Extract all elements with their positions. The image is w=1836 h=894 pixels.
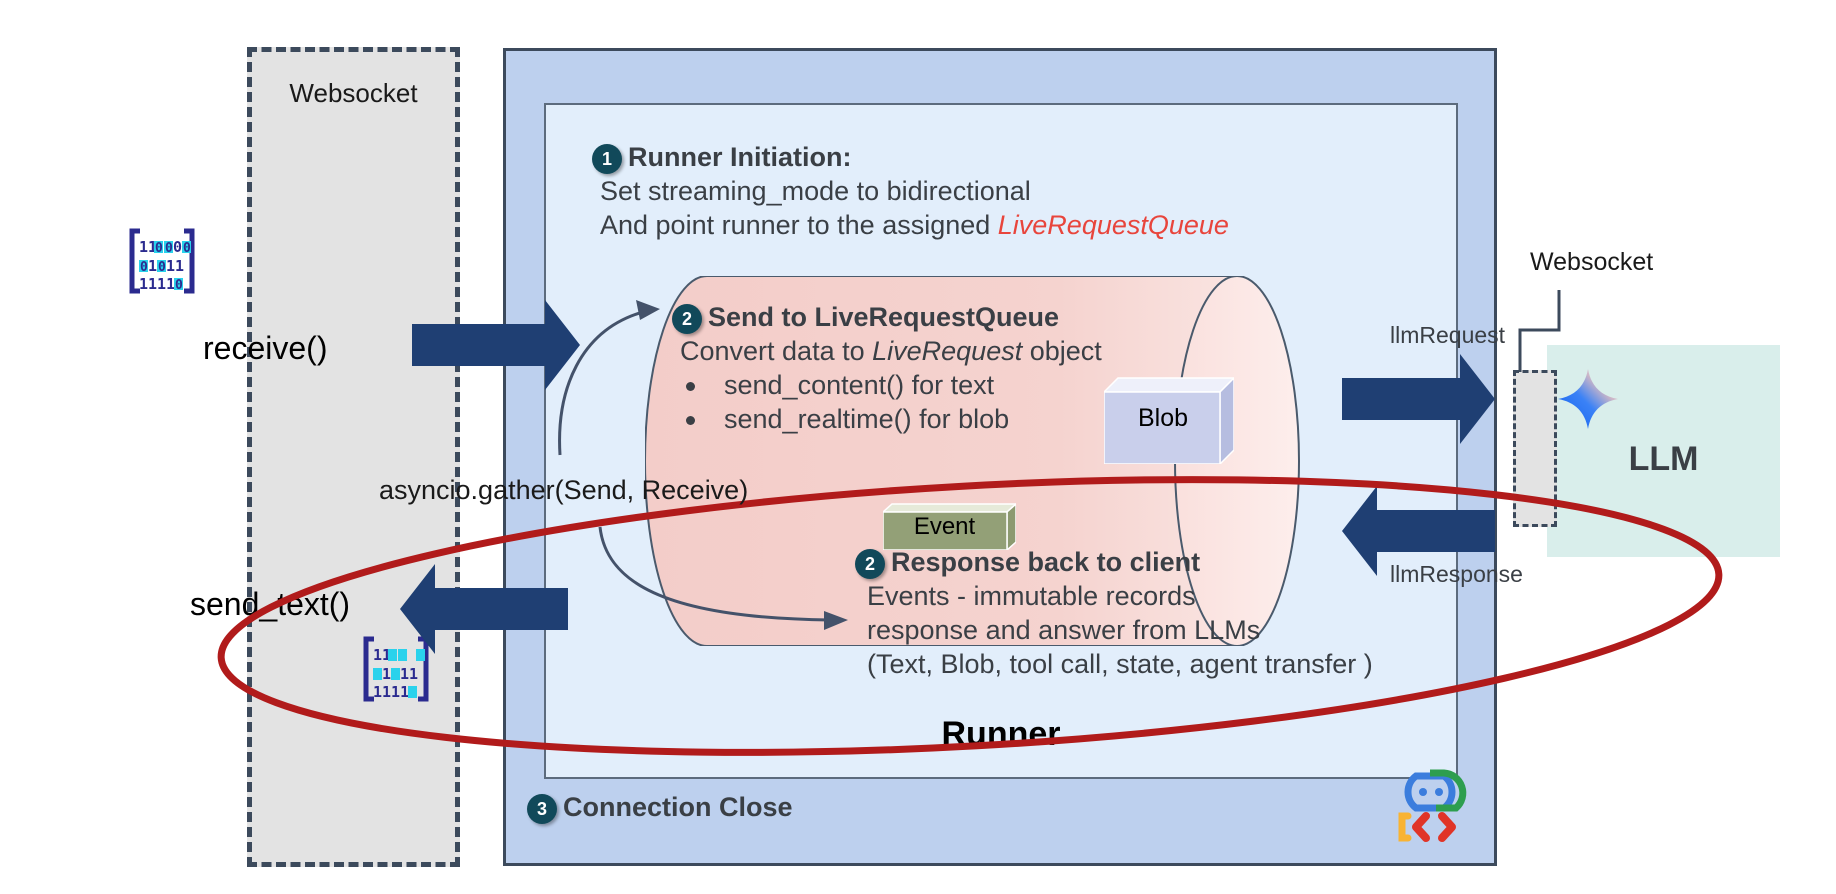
step2-response-back-to-client: 2Response back to client Events - immuta… [855, 545, 1415, 681]
step2-response-heading: 2Response back to client [855, 545, 1415, 579]
step3-heading: 3Connection Close [527, 790, 793, 824]
step3-heading-text: Connection Close [563, 792, 793, 822]
step2-response-line-2: response and answer from LLMs [855, 613, 1415, 647]
runner-title: Runner [544, 715, 1458, 754]
svg-text:11: 11 [400, 665, 418, 683]
svg-text:1: 1 [148, 257, 157, 275]
step2-response-badge: 2 [855, 549, 885, 579]
svg-text:0: 0 [165, 241, 173, 256]
client-websocket-label: Websocket [247, 78, 460, 109]
step1-line-1: Set streaming_mode to bidirectional [592, 174, 1332, 208]
llm-websocket-strip [1513, 370, 1557, 527]
step1-heading: 1Runner Initiation: [592, 140, 1332, 174]
subline-suffix: object [1022, 336, 1102, 366]
svg-text:11: 11 [166, 257, 184, 275]
event-label: Event [883, 513, 1006, 541]
binary-data-icon: 110 0111 1111 000 00 0 [128, 228, 196, 294]
live-request-keyword: LiveRequest [872, 336, 1022, 366]
svg-text:0: 0 [158, 260, 166, 275]
step1-line-2-text: And point runner to the assigned [600, 210, 998, 240]
gemini-sparkle-icon [1557, 368, 1619, 430]
svg-text:0: 0 [155, 241, 163, 256]
llm-websocket-label: Websocket [1530, 248, 1653, 277]
step1-line-2: And point runner to the assigned LiveReq… [592, 208, 1332, 242]
step2-response-line-3: (Text, Blob, tool call, state, agent tra… [855, 647, 1415, 681]
step3-connection-close: 3Connection Close [527, 790, 793, 824]
send-text-label: send_text() [190, 586, 350, 623]
svg-text:0: 0 [175, 278, 183, 293]
llm-request-label: llmRequest [1390, 322, 1505, 349]
step2-send-heading: 2Send to LiveRequestQueue [672, 300, 1292, 334]
llm-response-label: llmResponse [1390, 561, 1523, 588]
svg-text:1111: 1111 [139, 275, 175, 293]
step2-send-badge: 2 [672, 304, 702, 334]
step3-badge: 3 [527, 794, 557, 824]
binary-data-icon: 11 111 1111 [362, 636, 430, 702]
client-websocket-box [247, 47, 460, 867]
subline-prefix: Convert data to [680, 336, 872, 366]
step1-runner-initiation: 1Runner Initiation: Set streaming_mode t… [592, 140, 1332, 242]
svg-text:0: 0 [173, 238, 182, 256]
adk-logo-icon [1392, 768, 1468, 844]
receive-label: receive() [203, 330, 327, 367]
step1-heading-text: Runner Initiation: [628, 142, 851, 172]
step2-send-subline: Convert data to LiveRequest object [672, 334, 1292, 368]
asyncio-gather-label: asyncio.gather(Send, Receive) [379, 475, 748, 506]
step1-badge: 1 [592, 144, 622, 174]
blob-label: Blob [1104, 404, 1222, 433]
live-request-queue-keyword: LiveRequestQueue [998, 210, 1229, 240]
llm-label: LLM [1547, 440, 1780, 479]
svg-text:0: 0 [140, 260, 148, 275]
diagram-canvas: Websocket 110 0111 1111 000 00 0 11 111 … [0, 0, 1836, 894]
step2-send-heading-text: Send to LiveRequestQueue [708, 302, 1059, 332]
step2-response-line-1: Events - immutable records [855, 579, 1415, 613]
svg-text:1: 1 [382, 665, 391, 683]
step2-response-heading-text: Response back to client [891, 547, 1200, 577]
svg-text:0: 0 [183, 241, 191, 256]
svg-text:1111: 1111 [373, 683, 409, 701]
